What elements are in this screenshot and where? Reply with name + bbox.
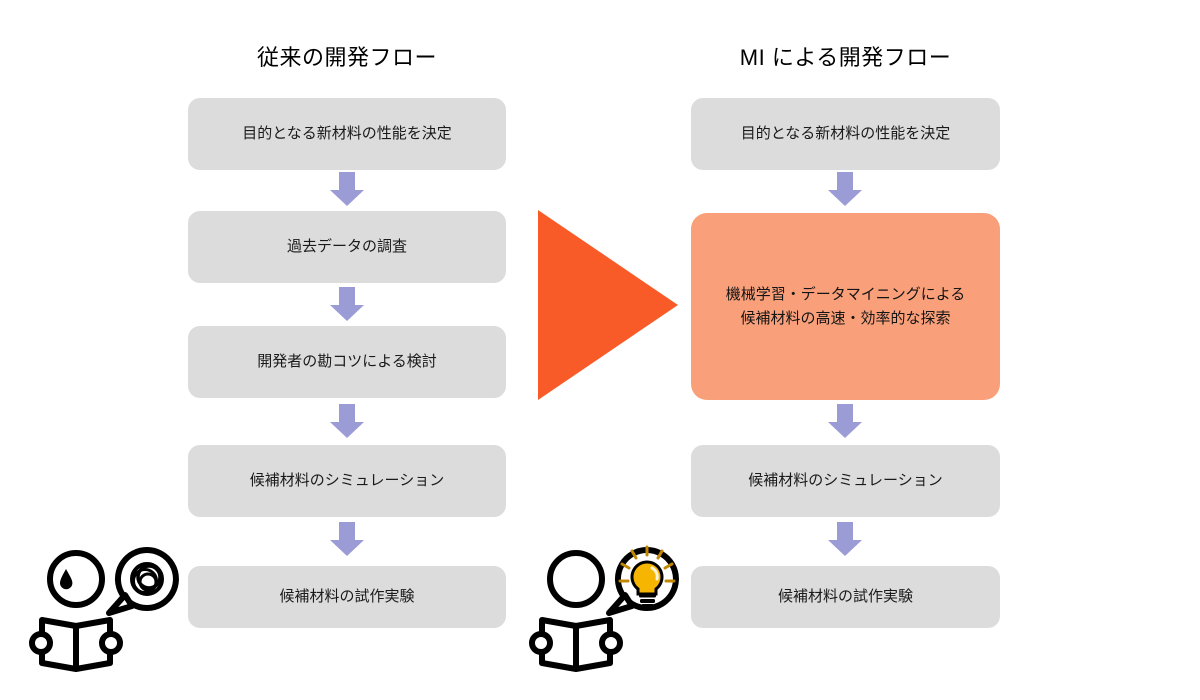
right-step-label-4: 候補材料の試作実験 <box>768 586 923 608</box>
arrow-down-icon <box>828 522 862 556</box>
arrow-down-icon <box>828 404 862 438</box>
right-step-label-3: 候補材料のシミュレーション <box>738 470 952 492</box>
right-step-highlight-line-1: 機械学習・データマイニングによる <box>726 286 966 303</box>
left-step-label-2: 過去データの調査 <box>277 236 417 258</box>
arrow-down-icon <box>330 522 364 556</box>
right-step-box-1: 目的となる新材料の性能を決定 <box>691 98 1000 170</box>
left-step-box-2: 過去データの調査 <box>188 211 506 283</box>
right-step-box-highlight: 機械学習・データマイニングによる 候補材料の高速・効率的な探索 <box>691 213 1000 400</box>
arrow-down-icon <box>828 172 862 206</box>
left-step-box-3: 開発者の勘コツによる検討 <box>188 326 506 398</box>
right-step-label-1: 目的となる新材料の性能を決定 <box>731 123 961 145</box>
right-step-box-4: 候補材料の試作実験 <box>691 566 1000 628</box>
diagram-canvas: 従来の開発フロー MI による開発フロー 目的となる新材料の性能を決定 過去デー… <box>0 0 1200 700</box>
arrow-down-icon <box>330 404 364 438</box>
left-step-box-1: 目的となる新材料の性能を決定 <box>188 98 506 170</box>
big-right-triangle-arrow-icon <box>538 210 678 400</box>
right-flow-title: MI による開発フロー <box>691 44 1000 72</box>
right-step-highlight-line-2: 候補材料の高速・効率的な探索 <box>740 310 950 327</box>
left-step-box-4: 候補材料のシミュレーション <box>188 445 506 517</box>
left-flow-title: 従来の開発フロー <box>188 44 506 72</box>
person-reading-idea-icon <box>528 542 688 672</box>
left-step-label-3: 開発者の勘コツによる検討 <box>247 351 447 373</box>
arrow-down-icon <box>330 172 364 206</box>
left-step-label-5: 候補材料の試作実験 <box>269 586 424 608</box>
left-step-label-1: 目的となる新材料の性能を決定 <box>232 123 462 145</box>
right-step-highlight-text: 機械学習・データマイニングによる 候補材料の高速・効率的な探索 <box>716 283 976 331</box>
right-step-box-3: 候補材料のシミュレーション <box>691 445 1000 517</box>
left-step-box-5: 候補材料の試作実験 <box>188 566 506 628</box>
left-step-label-4: 候補材料のシミュレーション <box>240 470 454 492</box>
arrow-down-icon <box>330 287 364 321</box>
person-reading-confused-icon <box>28 542 188 672</box>
